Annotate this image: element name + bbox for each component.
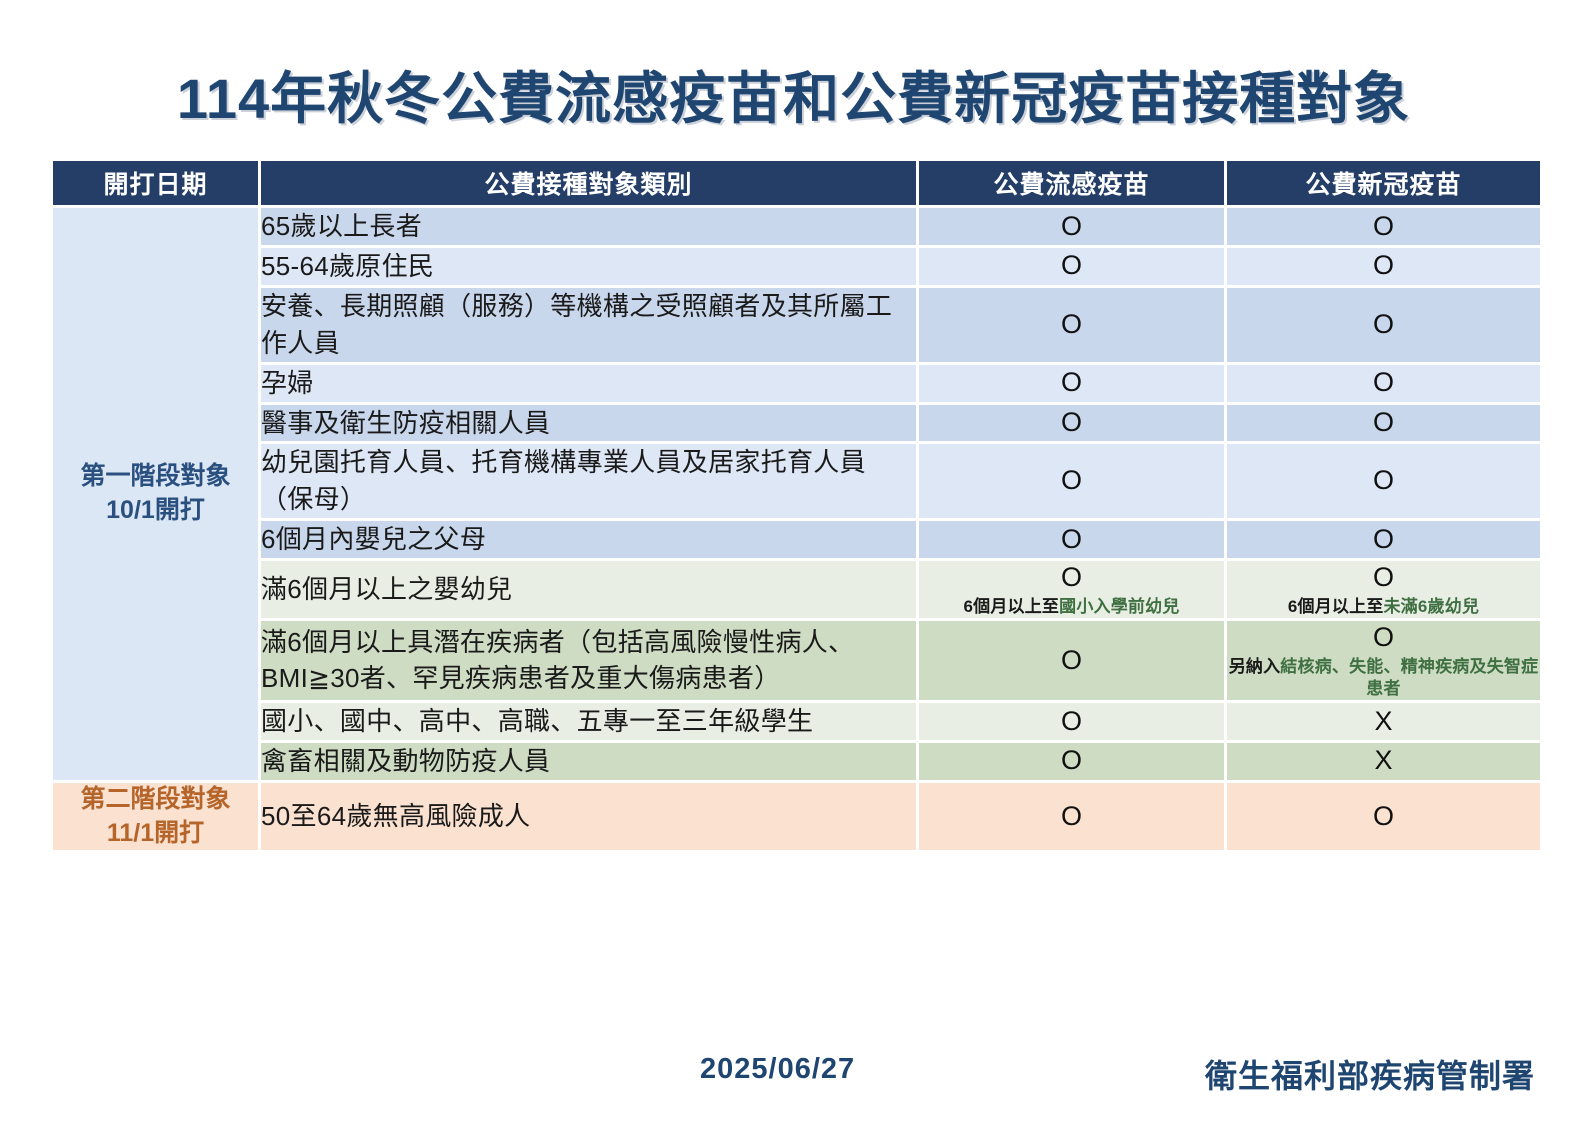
- category-cell: 滿6個月以上具潛在疾病者（包括高風險慢性病人、BMI≧30者、罕見疾病患者及重大…: [261, 621, 916, 700]
- covid-mark-cell: O: [1227, 444, 1540, 518]
- covid-mark: O: [1227, 308, 1540, 342]
- covid-mark: O: [1227, 621, 1540, 655]
- footer-organization: 衛生福利部疾病管制署: [1205, 1051, 1535, 1097]
- table-row: 第一階段對象10/1開打65歲以上長者OO: [53, 208, 1540, 245]
- covid-mark-note: 另納入結核病、失能、精神疾病及失智症患者: [1227, 656, 1540, 700]
- category-cell: 安養、長期照顧（服務）等機構之受照顧者及其所屬工作人員: [261, 288, 916, 362]
- stage-label-cell-2: 第二階段對象11/1開打: [53, 783, 258, 851]
- flu-mark-cell: O: [919, 703, 1224, 740]
- covid-note-highlight: 未滿6歲幼兒: [1384, 597, 1480, 616]
- covid-mark: O: [1227, 523, 1540, 557]
- category-cell: 禽畜相關及動物防疫人員: [261, 743, 916, 780]
- flu-mark-cell: O: [919, 743, 1224, 780]
- category-cell: 幼兒園托育人員、托育機構專業人員及居家托育人員（保母）: [261, 444, 916, 518]
- table-header-row: 開打日期 公費接種對象類別 公費流感疫苗 公費新冠疫苗: [53, 161, 1540, 205]
- covid-mark-cell: X: [1227, 743, 1540, 780]
- table-row: 國小、國中、高中、高職、五專一至三年級學生OX: [53, 703, 1540, 740]
- covid-mark-cell: O: [1227, 783, 1540, 851]
- flu-mark-cell: O: [919, 521, 1224, 558]
- flu-mark: O: [919, 705, 1224, 739]
- stage-label-line1: 第一階段對象: [53, 460, 258, 494]
- covid-mark-cell: O: [1227, 405, 1540, 442]
- table-row: 滿6個月以上之嬰幼兒O6個月以上至國小入學前幼兒O6個月以上至未滿6歲幼兒: [53, 561, 1540, 618]
- stage-label-line1: 第二階段對象: [53, 783, 258, 817]
- flu-mark: O: [919, 561, 1224, 595]
- covid-note-plain: 6個月以上至: [1288, 597, 1384, 616]
- stage-label-cell-1: 第一階段對象10/1開打: [53, 208, 258, 780]
- table-row: 55-64歲原住民OO: [53, 248, 1540, 285]
- table-row: 醫事及衛生防疫相關人員OO: [53, 405, 1540, 442]
- category-cell: 55-64歲原住民: [261, 248, 916, 285]
- flu-mark-cell: O: [919, 365, 1224, 402]
- flu-note-highlight: 國小入學前幼兒: [1059, 597, 1179, 616]
- flu-mark-cell: O: [919, 288, 1224, 362]
- page-title: 114年秋冬公費流感疫苗和公費新冠疫苗接種對象: [0, 54, 1587, 135]
- covid-mark-note: 6個月以上至未滿6歲幼兒: [1227, 596, 1540, 618]
- covid-mark-cell: O: [1227, 288, 1540, 362]
- covid-mark: O: [1227, 249, 1540, 283]
- table-row: 6個月內嬰兒之父母OO: [53, 521, 1540, 558]
- stage-label-line2: 10/1開打: [53, 494, 258, 528]
- flu-mark: O: [919, 523, 1224, 557]
- category-cell: 國小、國中、高中、高職、五專一至三年級學生: [261, 703, 916, 740]
- category-cell: 孕婦: [261, 365, 916, 402]
- flu-mark-note: 6個月以上至國小入學前幼兒: [919, 596, 1224, 618]
- covid-mark-cell: O: [1227, 521, 1540, 558]
- flu-mark: O: [919, 406, 1224, 440]
- covid-mark-cell: O: [1227, 248, 1540, 285]
- column-header-covid-vaccine: 公費新冠疫苗: [1227, 161, 1540, 205]
- covid-mark: O: [1227, 406, 1540, 440]
- flu-mark: O: [919, 644, 1224, 678]
- column-header-date: 開打日期: [53, 161, 258, 205]
- covid-note-highlight: 結核病、失能、精神疾病及失智症患者: [1280, 657, 1538, 698]
- covid-mark-cell: O: [1227, 365, 1540, 402]
- table-body: 第一階段對象10/1開打65歲以上長者OO55-64歲原住民OO安養、長期照顧（…: [53, 208, 1540, 850]
- flu-mark-cell: O: [919, 248, 1224, 285]
- covid-mark: O: [1227, 464, 1540, 498]
- category-cell: 50至64歲無高風險成人: [261, 783, 916, 851]
- covid-note-plain: 另納入: [1229, 657, 1281, 676]
- covid-mark: X: [1227, 744, 1540, 778]
- column-header-category: 公費接種對象類別: [261, 161, 916, 205]
- flu-note-plain: 6個月以上至: [963, 597, 1059, 616]
- covid-mark: O: [1227, 210, 1540, 244]
- covid-mark-cell: O6個月以上至未滿6歲幼兒: [1227, 561, 1540, 618]
- table-header: 開打日期 公費接種對象類別 公費流感疫苗 公費新冠疫苗: [53, 161, 1540, 205]
- table-row: 幼兒園托育人員、托育機構專業人員及居家托育人員（保母）OO: [53, 444, 1540, 518]
- flu-mark-cell: O6個月以上至國小入學前幼兒: [919, 561, 1224, 618]
- flu-mark-cell: O: [919, 621, 1224, 700]
- category-cell: 65歲以上長者: [261, 208, 916, 245]
- flu-mark-cell: O: [919, 405, 1224, 442]
- covid-mark: O: [1227, 366, 1540, 400]
- table-row: 第二階段對象11/1開打50至64歲無高風險成人OO: [53, 783, 1540, 851]
- table-row: 禽畜相關及動物防疫人員OX: [53, 743, 1540, 780]
- footer-date: 2025/06/27: [700, 1053, 855, 1086]
- flu-mark: O: [919, 744, 1224, 778]
- category-cell: 滿6個月以上之嬰幼兒: [261, 561, 916, 618]
- covid-mark: X: [1227, 705, 1540, 739]
- table-row: 孕婦OO: [53, 365, 1540, 402]
- flu-mark-cell: O: [919, 444, 1224, 518]
- stage-label-line2: 11/1開打: [53, 817, 258, 851]
- flu-mark: O: [919, 249, 1224, 283]
- flu-mark: O: [919, 308, 1224, 342]
- category-cell: 醫事及衛生防疫相關人員: [261, 405, 916, 442]
- covid-mark-cell: X: [1227, 703, 1540, 740]
- covid-mark-cell: O: [1227, 208, 1540, 245]
- table-row: 安養、長期照顧（服務）等機構之受照顧者及其所屬工作人員OO: [53, 288, 1540, 362]
- covid-mark: O: [1227, 800, 1540, 834]
- covid-mark: O: [1227, 561, 1540, 595]
- vaccination-eligibility-table: 開打日期 公費接種對象類別 公費流感疫苗 公費新冠疫苗 第一階段對象10/1開打…: [50, 158, 1543, 853]
- category-cell: 6個月內嬰兒之父母: [261, 521, 916, 558]
- flu-mark-cell: O: [919, 208, 1224, 245]
- covid-mark-cell: O另納入結核病、失能、精神疾病及失智症患者: [1227, 621, 1540, 700]
- flu-mark: O: [919, 210, 1224, 244]
- flu-mark: O: [919, 800, 1224, 834]
- flu-mark-cell: O: [919, 783, 1224, 851]
- flu-mark: O: [919, 464, 1224, 498]
- table-row: 滿6個月以上具潛在疾病者（包括高風險慢性病人、BMI≧30者、罕見疾病患者及重大…: [53, 621, 1540, 700]
- column-header-flu-vaccine: 公費流感疫苗: [919, 161, 1224, 205]
- flu-mark: O: [919, 366, 1224, 400]
